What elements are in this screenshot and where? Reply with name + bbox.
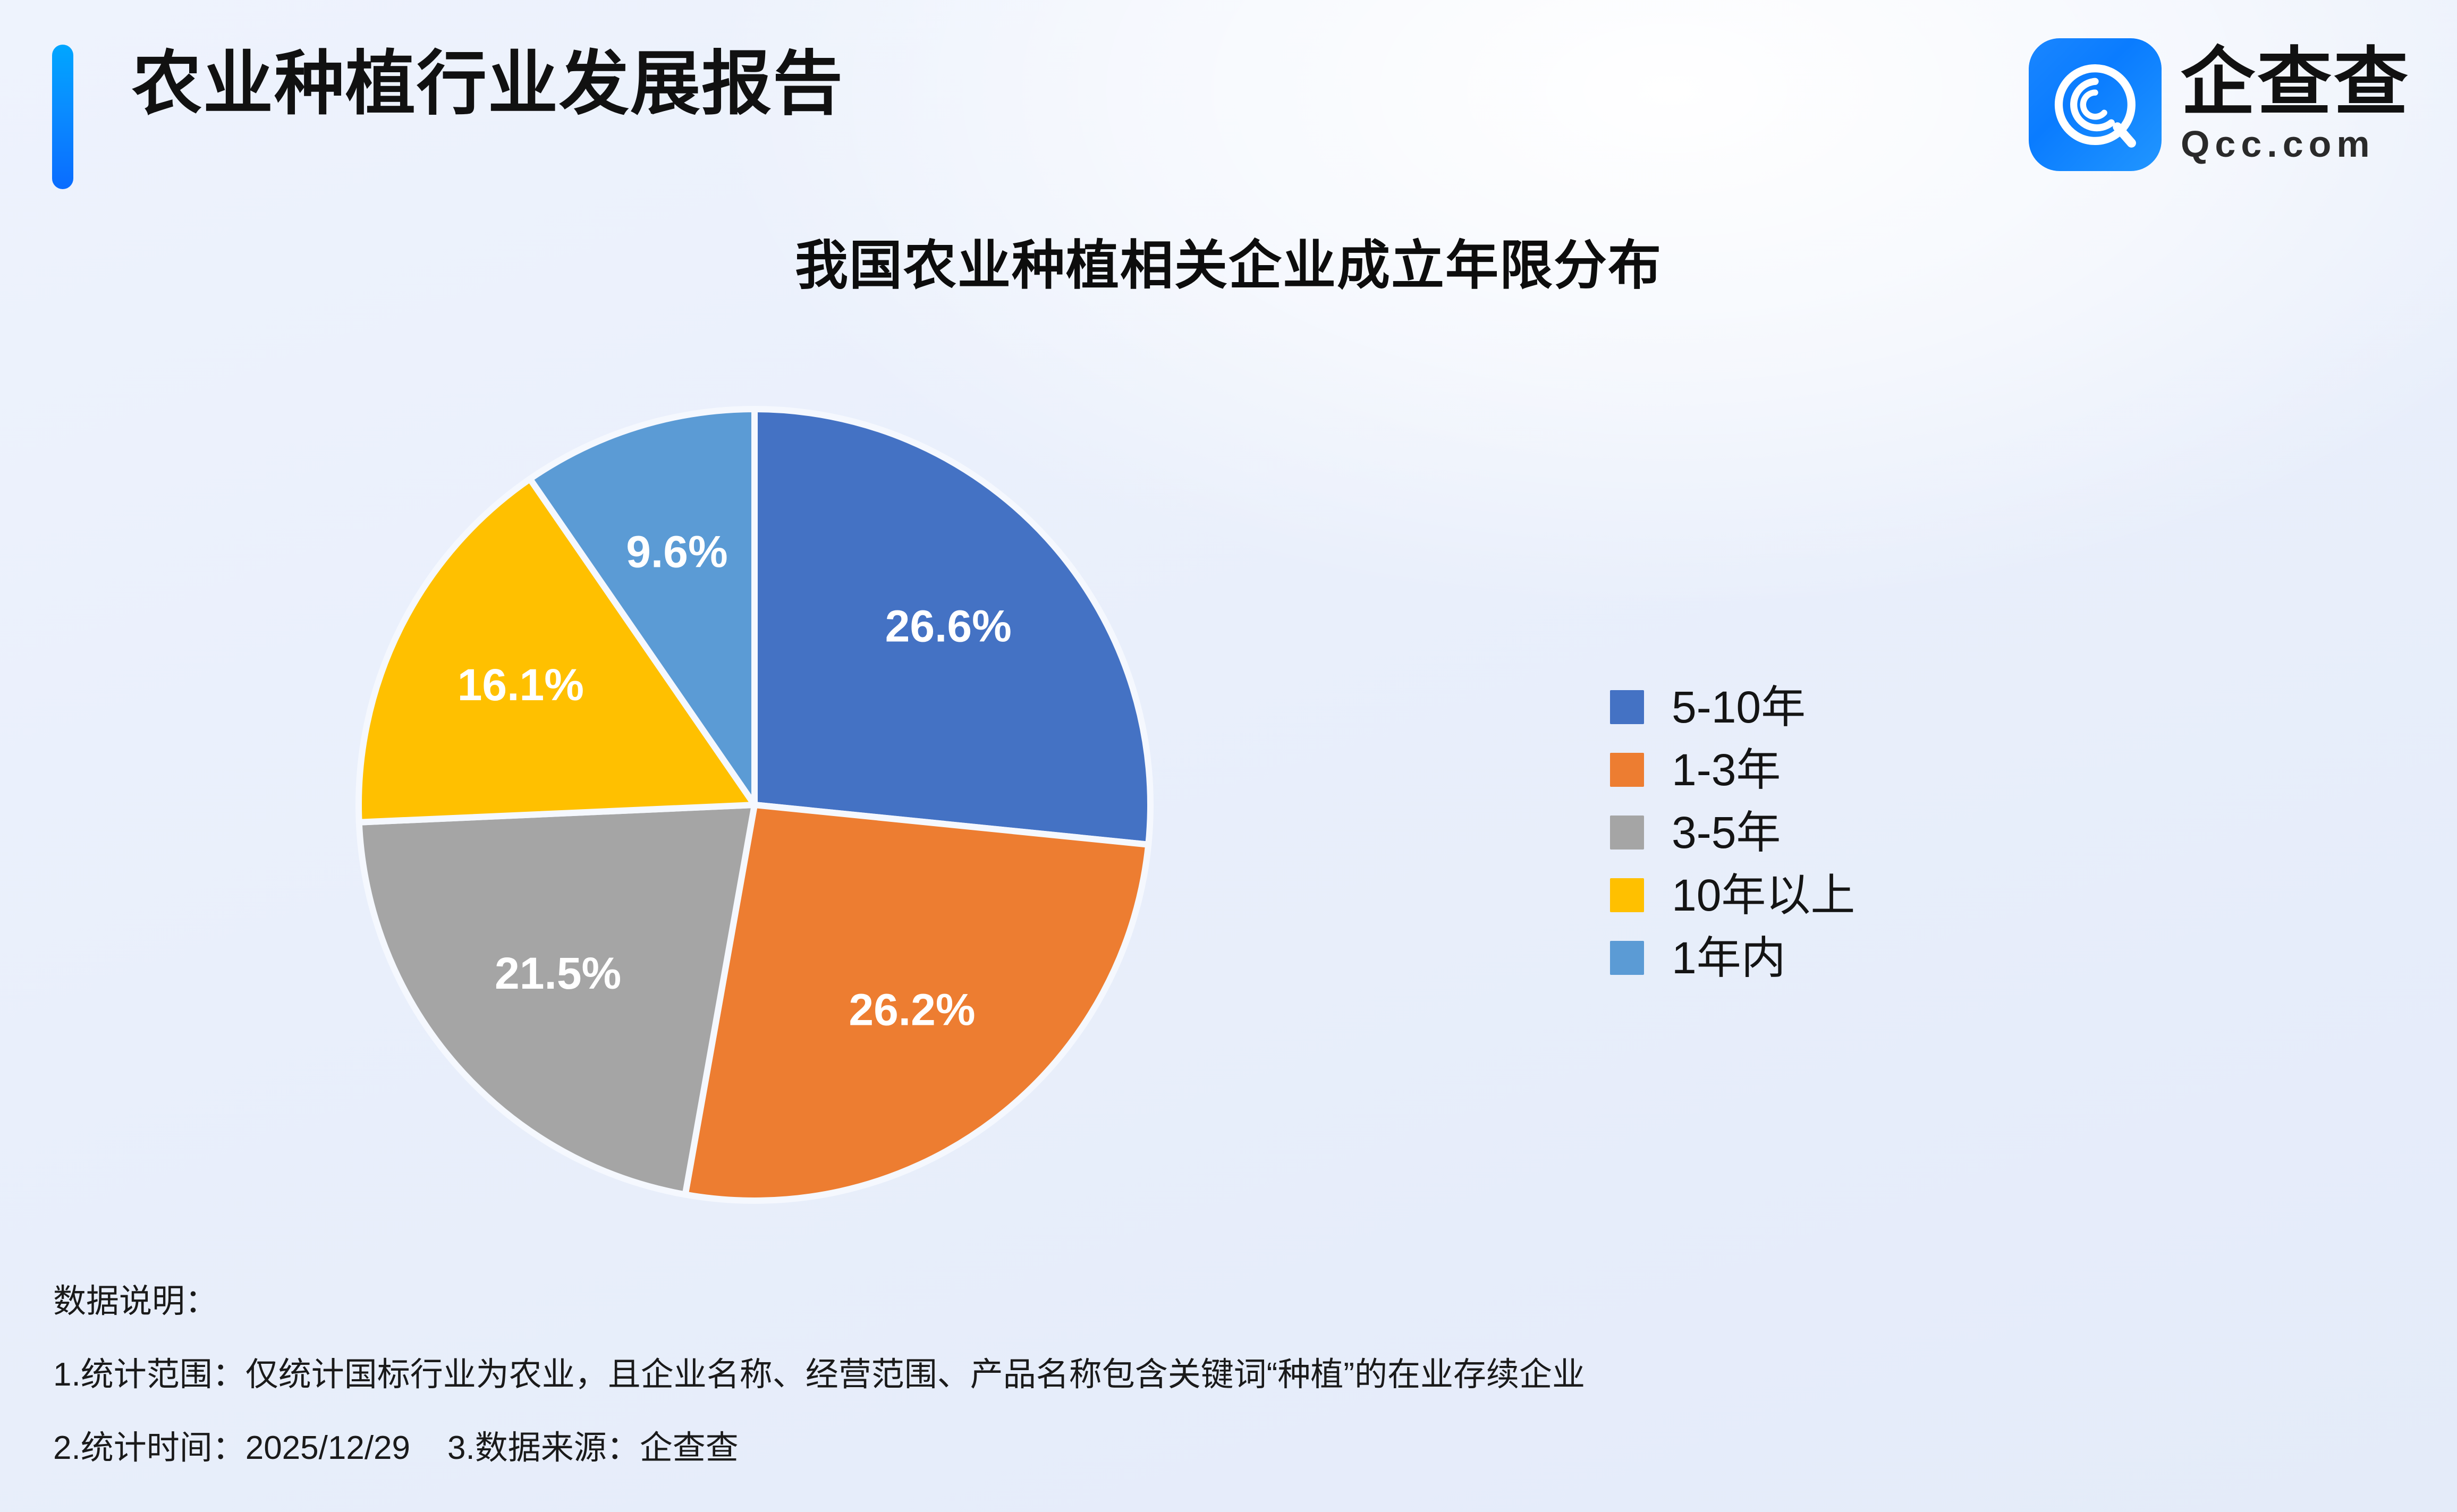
legend-item[interactable]: 5-10年	[1610, 676, 1855, 738]
report-canvas: 农业种植行业发展报告 企查查 Qcc.com 我国农业种植相关企业成立年限分布 …	[0, 0, 2457, 1512]
footer-heading: 数据说明：	[53, 1274, 1585, 1322]
brand-logo: 企查查 Qcc.com	[2029, 38, 2410, 171]
qcc-q-logo-icon	[2029, 38, 2162, 171]
chart-legend: 5-10年 1-3年 3-5年 10年以上 1年内	[1610, 676, 1855, 989]
footer-notes: 数据说明： 1.统计范围：仅统计国标行业为农业，且企业名称、经营范围、产品名称包…	[53, 1274, 1585, 1494]
pie-slice-label: 9.6%	[626, 527, 727, 577]
legend-item[interactable]: 1年内	[1610, 927, 1855, 989]
brand-name-en: Qcc.com	[2181, 124, 2375, 165]
pie-slice[interactable]	[359, 805, 755, 1195]
footer-data-source: 3.数据来源：企查查	[447, 1430, 739, 1466]
legend-swatch-icon	[1610, 753, 1644, 787]
page-title: 农业种植行业发展报告	[132, 49, 844, 119]
legend-swatch-icon	[1610, 816, 1644, 850]
legend-item[interactable]: 10年以上	[1610, 864, 1855, 927]
brand-name-cn: 企查查	[2181, 45, 2410, 121]
chart-title: 我国农业种植相关企业成立年限分布	[0, 222, 2457, 299]
title-accent-bar	[52, 45, 73, 189]
legend-item-label: 5-10年	[1672, 685, 1806, 729]
pie-slice-label: 26.2%	[849, 984, 975, 1034]
pie-slice-label: 26.6%	[885, 601, 1012, 651]
brand-logo-text: 企查查 Qcc.com	[2181, 45, 2410, 165]
legend-swatch-icon	[1610, 941, 1644, 975]
legend-item[interactable]: 3-5年	[1610, 801, 1855, 864]
legend-item-label: 3-5年	[1672, 810, 1781, 855]
legend-swatch-icon	[1610, 690, 1644, 724]
pie-chart: 26.6%26.2%21.5%16.1%9.6%	[298, 348, 1211, 1262]
legend-item-label: 10年以上	[1672, 873, 1855, 918]
pie-slice-group	[359, 409, 1150, 1201]
legend-item-label: 1年内	[1672, 936, 1786, 980]
legend-swatch-icon	[1610, 878, 1644, 912]
legend-item-label: 1-3年	[1672, 747, 1781, 792]
footer-meta-line: 2.统计时间：2025/12/293.数据来源：企查查	[53, 1421, 1585, 1468]
pie-chart-svg: 26.6%26.2%21.5%16.1%9.6%	[298, 348, 1211, 1262]
legend-item[interactable]: 1-3年	[1610, 738, 1855, 801]
footer-stat-time: 2.统计时间：2025/12/29	[53, 1430, 410, 1466]
footer-scope-line: 1.统计范围：仅统计国标行业为农业，且企业名称、经营范围、产品名称包含关键词“种…	[53, 1347, 1585, 1395]
pie-slice-label: 16.1%	[457, 660, 584, 710]
pie-slice-label: 21.5%	[495, 948, 621, 998]
